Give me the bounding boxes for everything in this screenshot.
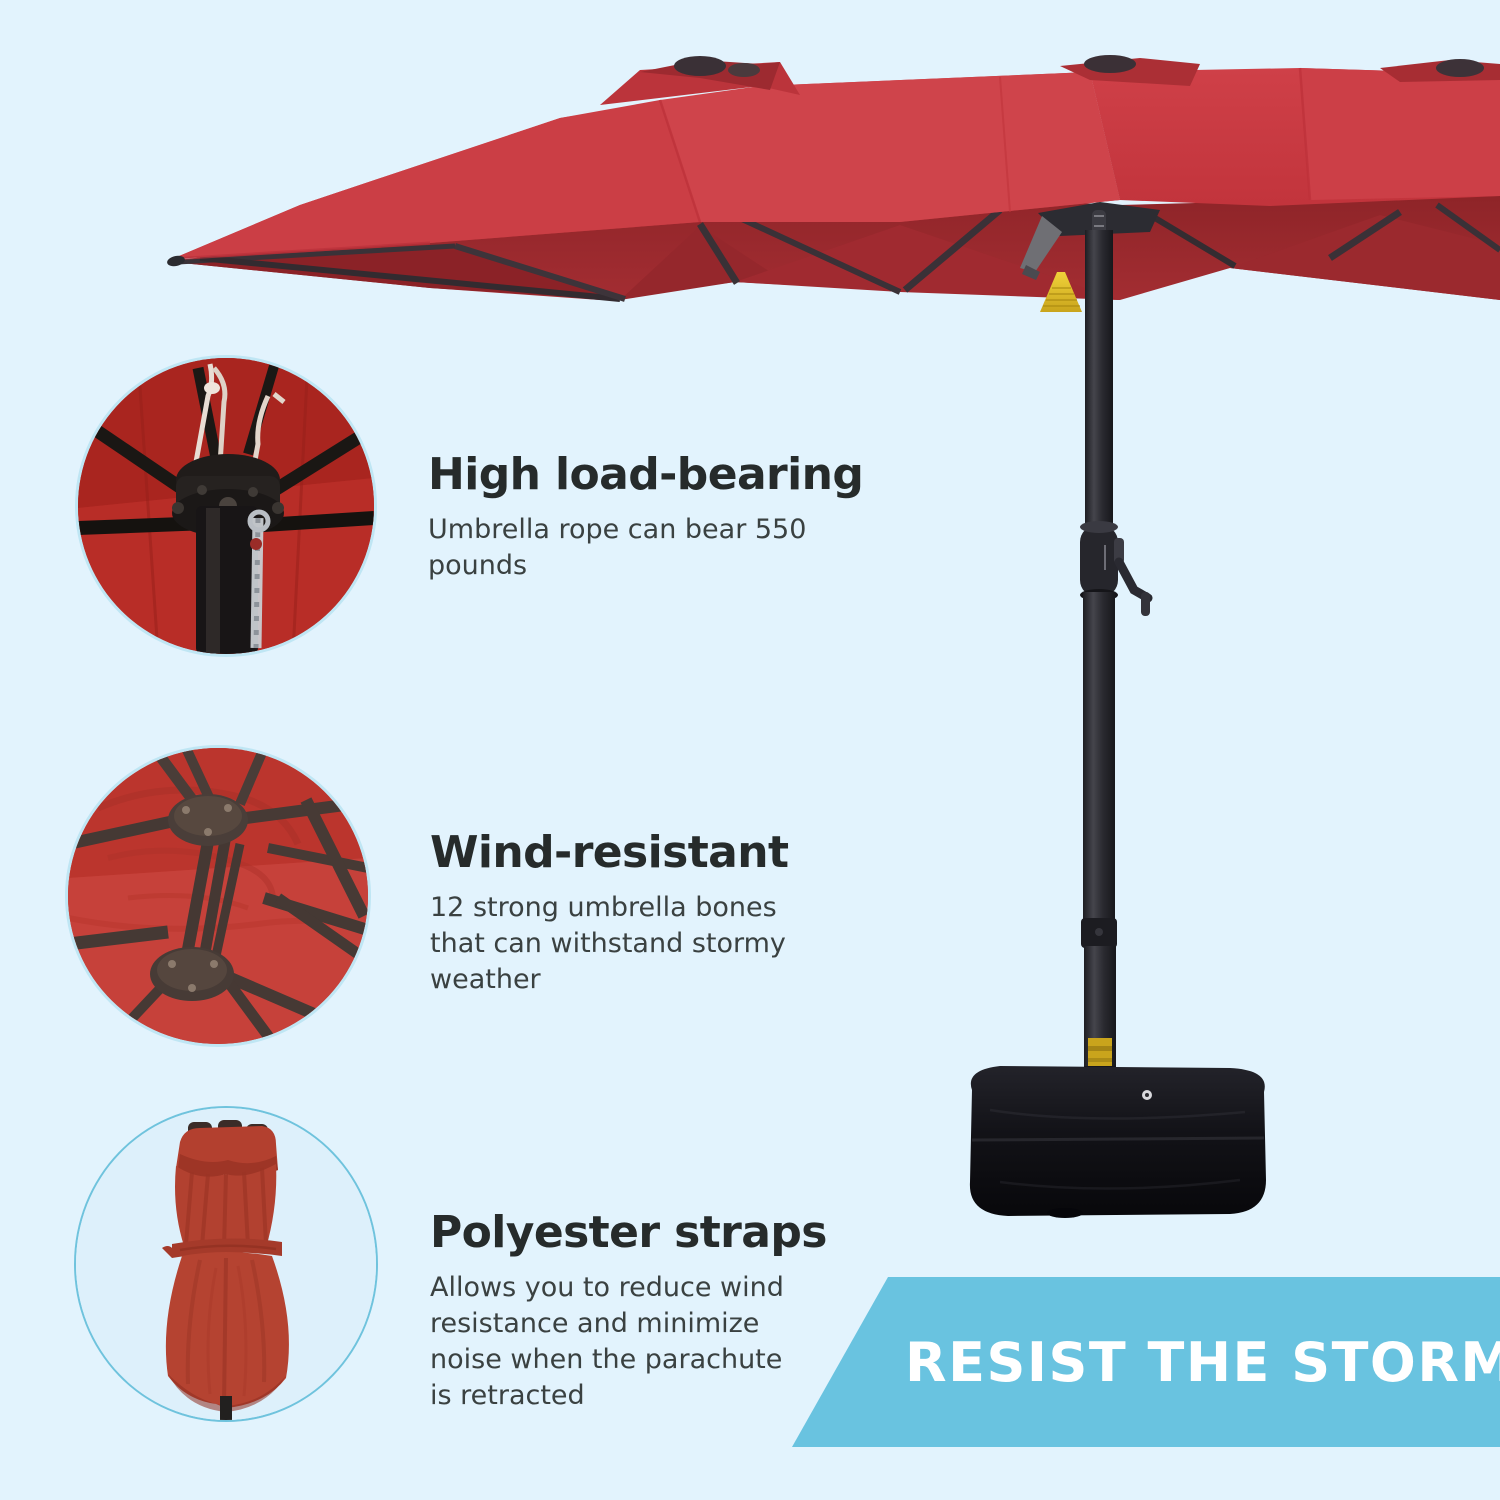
feature-text-block: High load-bearing Umbrella rope can bear…: [428, 446, 863, 584]
feature-wind-resistant: Wind-resistant 12 strong umbrella bones …: [68, 748, 810, 1044]
feature-description: 12 strong umbrella bones that can withst…: [430, 890, 810, 998]
feature-polyester-straps: Polyester straps Allows you to reduce wi…: [76, 1108, 827, 1420]
feature-text-block: Polyester straps Allows you to reduce wi…: [430, 1204, 827, 1414]
feature-high-load-bearing: High load-bearing Umbrella rope can bear…: [78, 358, 863, 654]
umbrella-hub-with-rope-and-chain-photo: [78, 358, 374, 654]
feature-description: Umbrella rope can bear 550 pounds: [428, 512, 808, 584]
feature-title: Polyester straps: [430, 1210, 827, 1256]
feature-text-block: Wind-resistant 12 strong umbrella bones …: [430, 824, 810, 998]
feature-description: Allows you to reduce wind resistance and…: [430, 1270, 810, 1414]
feature-thumb-wrap: [68, 748, 368, 1044]
black-fabric-weight-base: [970, 1066, 1266, 1218]
resist-the-storm-banner: RESIST THE STORM: [780, 1277, 1500, 1447]
umbrella-ribs-underside-photo: [68, 748, 368, 1044]
furled-umbrella-with-strap-photo: [76, 1108, 376, 1420]
hand-crank-handle: [1114, 538, 1150, 616]
feature-thumb-wrap: [78, 358, 374, 654]
feature-thumb-wrap: [76, 1108, 376, 1420]
feature-title: High load-bearing: [428, 452, 863, 498]
banner-text: RESIST THE STORM: [905, 1331, 1500, 1394]
feature-title: Wind-resistant: [430, 830, 810, 876]
infographic-canvas: High load-bearing Umbrella rope can bear…: [0, 0, 1500, 1500]
